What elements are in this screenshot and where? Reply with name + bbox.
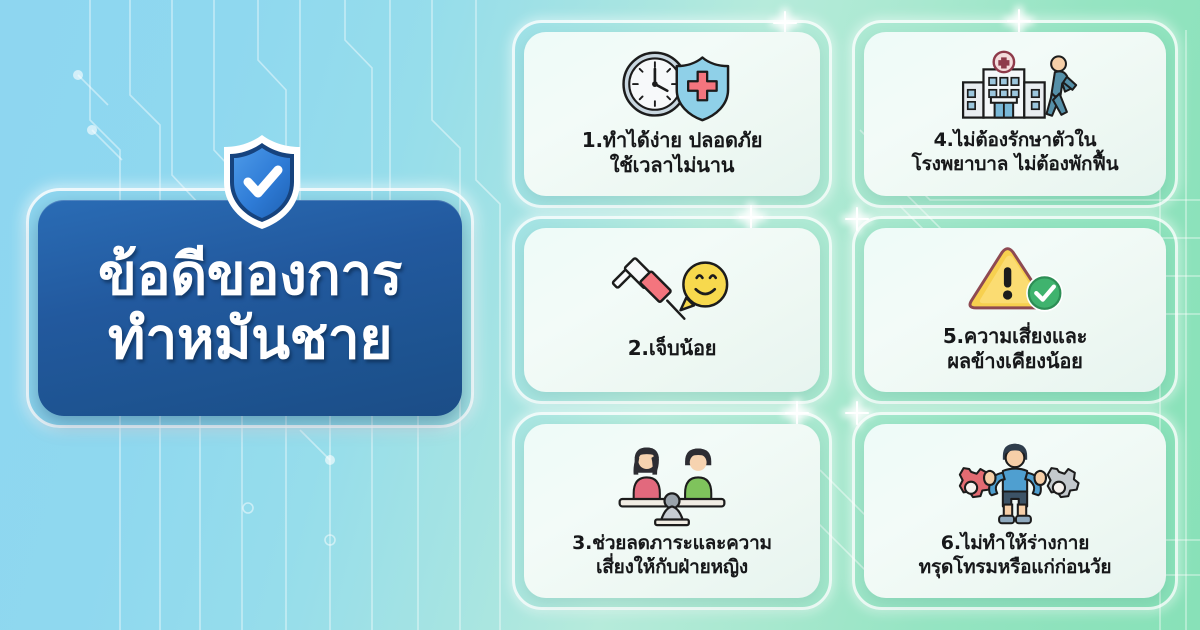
benefit-card-5[interactable]: 5.ความเสี่ยงและ ผลข้างเคียงน้อย [864, 228, 1166, 392]
benefit-card-2[interactable]: 2.เจ็บน้อย [524, 228, 820, 392]
benefit-card-2-label: 2.เจ็บน้อย [628, 336, 717, 361]
hospital-walking-person-icon [948, 49, 1082, 125]
benefit-card-1-label: 1.ทำได้ง่าย ปลอดภัย ใช้เวลาไม่นาน [582, 128, 763, 178]
benefit-card-1[interactable]: 1.ทำได้ง่าย ปลอดภัย ใช้เวลาไม่นาน [524, 32, 820, 196]
syringe-smiley-icon [607, 256, 737, 332]
benefit-card-4-label: 4.ไม่ต้องรักษาตัวใน โรงพยาบาล ไม่ต้องพัก… [912, 129, 1119, 177]
page-title-box: ข้อดีของการ ทำหมันชาย [38, 200, 462, 416]
benefit-card-4[interactable]: 4.ไม่ต้องรักษาตัวใน โรงพยาบาล ไม่ต้องพัก… [864, 32, 1166, 196]
benefit-card-3[interactable]: 3.ช่วยลดภาระและความ เสี่ยงให้กับฝ่ายหญิง [524, 424, 820, 598]
shield-check-icon [216, 132, 308, 232]
benefit-card-grid: 1.ทำได้ง่าย ปลอดภัย ใช้เวลาไม่นาน [500, 0, 1200, 630]
benefit-card-5-label: 5.ความเสี่ยงและ ผลข้างเคียงน้อย [943, 324, 1087, 374]
left-title-panel: ข้อดีของการ ทำหมันชาย [0, 0, 500, 630]
page-title-line-2: ทำหมันชาย [108, 309, 392, 371]
warning-triangle-check-icon [959, 244, 1071, 320]
strong-man-gears-icon [944, 440, 1086, 528]
infographic-stage: ข้อดีของการ ทำหมันชาย [0, 0, 1200, 630]
benefit-card-6-label: 6.ไม่ทำให้ร่างกาย ทรุดโทรมหรือแก่ก่อนวัย [919, 532, 1112, 580]
clock-medical-shield-icon [606, 48, 738, 124]
page-title-line-1: ข้อดีของการ [98, 245, 402, 307]
benefit-card-6[interactable]: 6.ไม่ทำให้ร่างกาย ทรุดโทรมหรือแก่ก่อนวัย [864, 424, 1166, 598]
benefit-card-3-label: 3.ช่วยลดภาระและความ เสี่ยงให้กับฝ่ายหญิง [572, 532, 772, 580]
couple-balance-scale-icon [606, 440, 738, 528]
